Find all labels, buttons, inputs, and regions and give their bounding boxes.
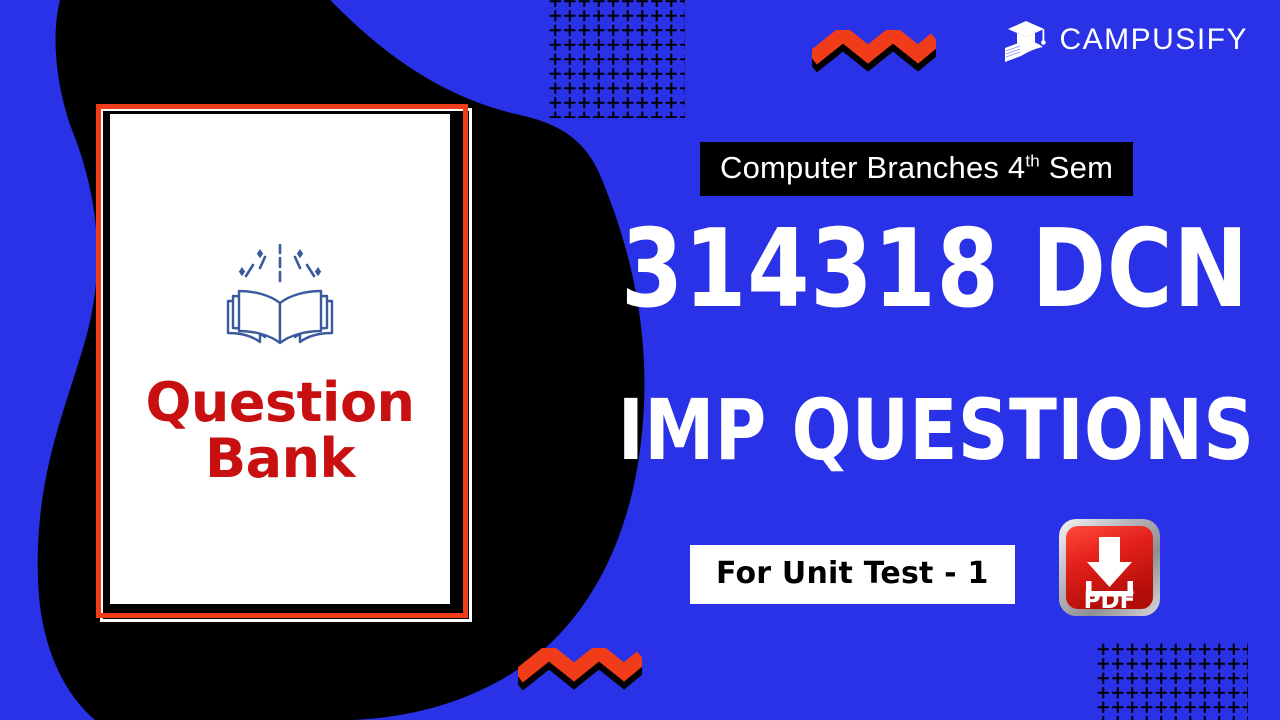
right-content-column: CAMPUSIFY Computer Branches 4th Sem 3143… xyxy=(590,0,1280,720)
card-surface: Question Bank xyxy=(110,114,450,604)
graduation-cap-book-icon xyxy=(1003,18,1049,62)
subhead-imp-questions: IMP QUESTIONS xyxy=(618,388,1223,472)
pdf-download-icon[interactable]: PDF xyxy=(1055,515,1170,625)
semester-badge-suffix: Sem xyxy=(1040,150,1113,185)
unit-test-badge: For Unit Test - 1 xyxy=(690,545,1015,604)
headline-course-code: 314318 DCN xyxy=(621,218,1219,323)
card-title-line2: Bank xyxy=(146,431,415,487)
card-title: Question Bank xyxy=(146,375,415,487)
brand-name: CAMPUSIFY xyxy=(1059,23,1248,57)
pdf-icon-label: PDF xyxy=(1084,588,1136,614)
semester-badge: Computer Branches 4th Sem xyxy=(700,142,1133,196)
semester-badge-sup: th xyxy=(1025,152,1040,171)
thumbnail-canvas: Question Bank xyxy=(0,0,1280,720)
open-book-sparkle-icon xyxy=(220,241,340,349)
brand-logo[interactable]: CAMPUSIFY xyxy=(1003,18,1248,62)
semester-badge-prefix: Computer Branches 4 xyxy=(720,150,1025,185)
card-title-line1: Question xyxy=(146,375,415,431)
question-bank-card: Question Bank xyxy=(88,96,478,626)
